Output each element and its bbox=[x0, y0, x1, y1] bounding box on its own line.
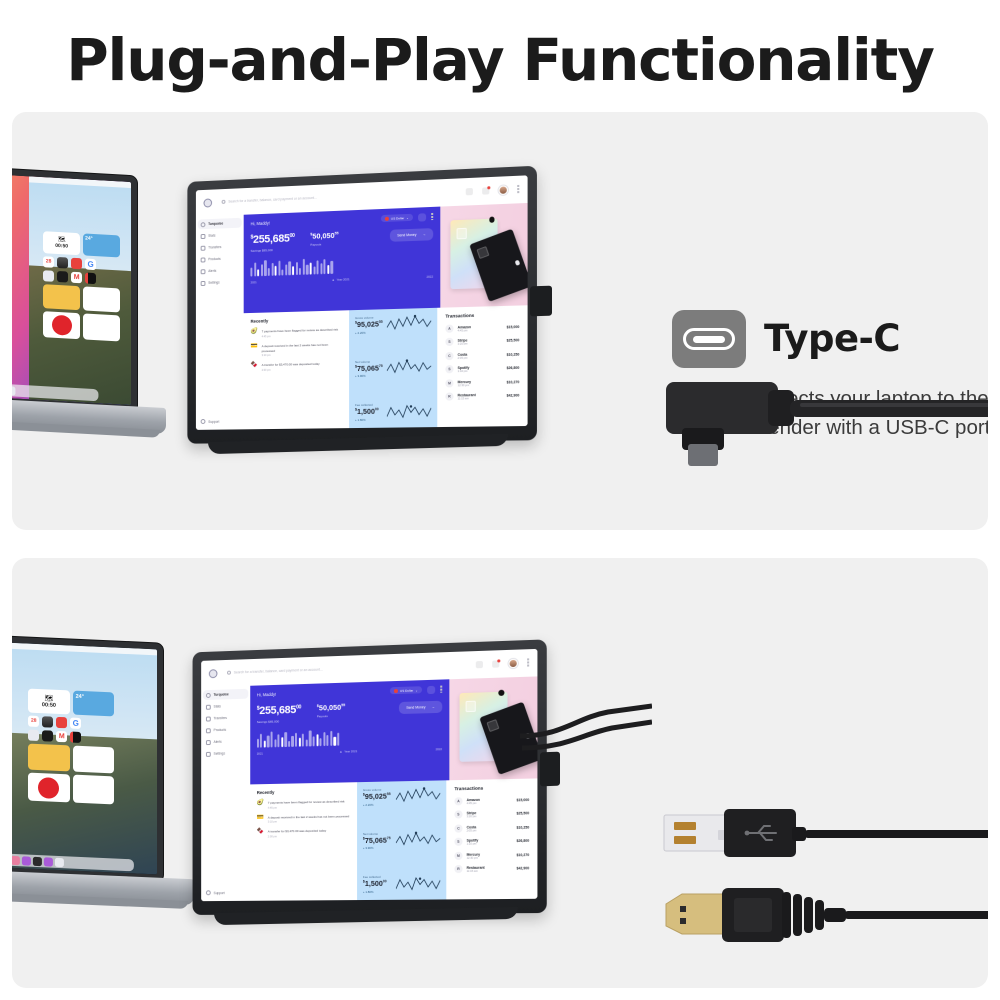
app-logo-icon[interactable] bbox=[204, 198, 213, 207]
sidebar-item-stats[interactable]: Stats bbox=[206, 704, 245, 710]
bar bbox=[302, 734, 304, 747]
portable-monitor-usb-hdmi: Search for a transfer, balance, card pay… bbox=[188, 646, 544, 914]
bar bbox=[261, 264, 263, 276]
finance-dashboard: Search for a transfer, balance, card pay… bbox=[201, 649, 537, 901]
transaction-amount: $25,500 bbox=[517, 811, 530, 815]
table-row[interactable]: S Spotify 1:10 pm $26,800 bbox=[454, 837, 529, 846]
item-time: 3:10 pm bbox=[262, 353, 343, 358]
item-emoji-icon: 🍫 bbox=[251, 362, 258, 372]
stat-delta: + 2.20% bbox=[363, 802, 391, 807]
monitor-port-nub bbox=[530, 286, 552, 317]
recently-section: Recently 🥑 7 payments have been flagged … bbox=[250, 782, 357, 838]
support-icon bbox=[206, 890, 211, 895]
world-clock-time: 00:50 bbox=[55, 243, 68, 250]
bar bbox=[320, 263, 322, 274]
sparkline-chart bbox=[387, 315, 431, 334]
dashboard-content: Hi, Maddy! US Dollar ⌄ bbox=[244, 203, 528, 429]
item-text: 7 payments have been flagged for review … bbox=[268, 800, 345, 805]
laptop-type-c: 🗺 00:50 24° 28 G bbox=[12, 170, 202, 470]
currency-label: US Dollar bbox=[391, 216, 404, 221]
transaction-time: 4:45 pm bbox=[458, 329, 471, 332]
balance-value: 255,685 bbox=[259, 704, 296, 717]
hero-row: Hi, Maddy! US Dollar ⌄ bbox=[244, 203, 528, 314]
mail-icon[interactable] bbox=[466, 188, 473, 195]
bar bbox=[313, 266, 315, 274]
stat-cents: 00 bbox=[375, 408, 379, 412]
avatar: R bbox=[454, 865, 462, 873]
notification-bell-icon[interactable] bbox=[482, 187, 489, 194]
list-item[interactable]: 🥑 7 payments have been flagged for revie… bbox=[257, 799, 350, 810]
transfers-icon bbox=[206, 716, 211, 721]
bar bbox=[278, 734, 280, 747]
weather-temp: 24° bbox=[76, 694, 112, 702]
bar bbox=[289, 261, 291, 275]
flag-icon bbox=[394, 689, 398, 693]
sidebar-item-label: Stats bbox=[214, 705, 221, 709]
sidebar: Turquoise Stats Transfers bbox=[201, 686, 250, 901]
table-row[interactable]: C Costa 2:05 pm $10,250 bbox=[445, 350, 519, 360]
calendar-icon: ▲ bbox=[332, 278, 335, 282]
sidebar-item-stats[interactable]: Stats bbox=[201, 233, 239, 239]
monitor-screen: Search for a transfer, balance, card pay… bbox=[196, 175, 528, 430]
chart-footer: 2021 ▲ Year 2021 2022 bbox=[257, 747, 442, 756]
bar bbox=[257, 739, 259, 748]
kebab-menu-icon[interactable] bbox=[517, 185, 519, 193]
sidebar: Turquoise Stats Transfers bbox=[196, 215, 244, 430]
balance-cents: 00 bbox=[290, 233, 295, 239]
world-clock-time: 00:50 bbox=[42, 702, 56, 709]
item-emoji-icon: 🥑 bbox=[251, 329, 258, 339]
sidebar-item-label: Transfers bbox=[214, 716, 227, 720]
stat-fee-collected: Fee collected $1,50000 + 1.80% bbox=[355, 402, 431, 422]
balance-cents: 00 bbox=[296, 704, 301, 710]
transaction-time: 4:45 pm bbox=[467, 802, 480, 805]
support-icon bbox=[201, 419, 206, 424]
item-time: 3:10 pm bbox=[268, 820, 349, 824]
stats-panel: Gross volume $95,02555 + 2.20% bbox=[349, 308, 437, 428]
bar bbox=[281, 737, 283, 747]
credit-cards-panel bbox=[440, 203, 527, 308]
bar bbox=[303, 259, 305, 275]
sidebar-item-settings[interactable]: Settings bbox=[201, 280, 239, 286]
avatar[interactable] bbox=[499, 185, 508, 195]
sidebar-item-label: Settings bbox=[214, 752, 225, 756]
sidebar-item-alerts[interactable]: Alerts bbox=[201, 268, 239, 274]
chart-footer-right: 2022 bbox=[427, 275, 434, 279]
bar bbox=[274, 739, 276, 747]
stat-fee-collected: Fee collected $1,50000 + 1.80% bbox=[363, 875, 440, 894]
bar bbox=[278, 261, 280, 276]
chevron-down-icon: ⌄ bbox=[406, 216, 409, 220]
item-emoji-icon: 💳 bbox=[257, 815, 264, 825]
weather-widget[interactable]: 24° bbox=[83, 233, 120, 257]
bar bbox=[285, 264, 287, 275]
app-icon-netflix[interactable] bbox=[85, 272, 96, 284]
stat-cents: 55 bbox=[379, 320, 383, 324]
lower-row: Recently 🥑 7 payments have been flagged … bbox=[250, 779, 538, 901]
desktop-widgets: 🗺 00:50 24° 28 G bbox=[43, 231, 120, 341]
app-icon-youtube[interactable] bbox=[56, 717, 67, 728]
flag-icon bbox=[385, 217, 389, 221]
stat-delta: + 1.80% bbox=[363, 890, 387, 894]
stat-delta: + 2.20% bbox=[355, 330, 383, 335]
app-icon-safari[interactable] bbox=[43, 270, 54, 282]
payouts-value: 50,050 bbox=[312, 231, 334, 241]
music-widget[interactable] bbox=[43, 311, 80, 339]
desktop-widgets: 🗺 00:50 24° 28 G bbox=[28, 689, 114, 805]
stats-icon bbox=[201, 234, 206, 239]
laptop-lid: 🗺 00:50 24° 28 G bbox=[12, 633, 164, 882]
bar bbox=[334, 737, 336, 746]
avatar: M bbox=[454, 852, 462, 860]
transaction-time: 1:10 pm bbox=[458, 370, 470, 373]
account-icon bbox=[206, 693, 211, 698]
music-widget[interactable] bbox=[28, 773, 69, 803]
sidebar-item-transfers[interactable]: Transfers bbox=[206, 715, 245, 721]
app-icon-google[interactable]: G bbox=[70, 717, 81, 728]
bar bbox=[331, 261, 333, 274]
laptop-lid: 🗺 00:50 24° 28 G bbox=[12, 165, 138, 414]
hdmi-cable bbox=[652, 878, 988, 958]
settings-icon bbox=[201, 281, 206, 286]
transaction-amount: $42,900 bbox=[517, 866, 530, 870]
item-text: A deposit received in the last 2 weeks h… bbox=[262, 342, 329, 352]
bar bbox=[282, 269, 284, 275]
app-icon-google[interactable]: G bbox=[85, 258, 96, 270]
bar bbox=[271, 731, 273, 747]
balance-bar-chart bbox=[257, 727, 442, 748]
macos-desktop: 🗺 00:50 24° 28 G bbox=[12, 172, 131, 405]
sidebar-item-label: Products bbox=[214, 728, 227, 732]
bar bbox=[267, 736, 269, 748]
savings-label: Savings $85,000 bbox=[257, 719, 301, 724]
recently-section: Recently 🥑 7 payments have been flagged … bbox=[244, 310, 349, 372]
notes-widget[interactable] bbox=[28, 744, 69, 772]
stat-cents: 75 bbox=[379, 364, 383, 368]
list-item[interactable]: 💳 A deposit received in the last 2 weeks… bbox=[257, 813, 350, 824]
send-money-button[interactable]: Send Money → bbox=[390, 228, 433, 242]
sidebar-account-switcher[interactable]: Turquoise bbox=[203, 689, 248, 700]
transaction-amount: $15,000 bbox=[507, 325, 520, 329]
stats-icon bbox=[206, 705, 211, 710]
bar bbox=[310, 263, 312, 275]
hero-kebab-menu-icon[interactable] bbox=[431, 213, 433, 220]
app-logo-icon[interactable] bbox=[209, 669, 218, 678]
notification-bell-icon[interactable] bbox=[492, 660, 499, 667]
settings-icon bbox=[206, 752, 211, 757]
app-icon-calendar[interactable]: 28 bbox=[28, 716, 39, 727]
calendar-widget[interactable] bbox=[83, 286, 120, 312]
calendar-widget[interactable] bbox=[73, 746, 114, 774]
monitor-bezel: Search for a transfer, balance, card pay… bbox=[187, 166, 537, 444]
sidebar-item-support[interactable]: Support bbox=[201, 419, 239, 424]
total-balance: $255,68500 Savings $85,000 bbox=[251, 233, 295, 252]
table-row[interactable]: R Restaurant 11:15 am $42,900 bbox=[445, 392, 519, 401]
product-feature-page: Plug-and-Play Functionality bbox=[0, 0, 1000, 1000]
avatar: A bbox=[454, 797, 462, 805]
item-time: 4:45 pm bbox=[262, 333, 338, 338]
stat-gross-volume: Gross volume $95,02555 + 2.20% bbox=[363, 787, 440, 807]
stat-value: 1,500 bbox=[365, 879, 383, 888]
sidebar-item-products[interactable]: Products bbox=[201, 256, 239, 262]
transaction-time: 11:15 am bbox=[458, 397, 476, 400]
recently-title: Recently bbox=[251, 317, 343, 324]
bar bbox=[257, 269, 259, 276]
transaction-time: 3:20 pm bbox=[458, 343, 468, 346]
monitor-bezel: Search for a transfer, balance, card pay… bbox=[193, 639, 547, 915]
transaction-time: 1:10 pm bbox=[467, 843, 479, 846]
bar bbox=[327, 265, 329, 274]
search-input[interactable]: Search for a transfer, balance, card pay… bbox=[217, 191, 378, 207]
usb-a-cable bbox=[652, 803, 988, 873]
avatar: S bbox=[454, 838, 462, 846]
item-text: A transfer for $3,470.00 was deposited t… bbox=[262, 362, 320, 367]
transaction-time: 2:05 pm bbox=[458, 356, 468, 359]
card-dot-icon bbox=[515, 260, 521, 266]
table-row[interactable]: R Restaurant 11:15 am $42,900 bbox=[454, 864, 529, 873]
item-emoji-icon: 💳 bbox=[251, 343, 258, 358]
balance-value: 255,685 bbox=[253, 233, 290, 246]
search-icon bbox=[227, 671, 231, 675]
total-balance: $255,68500 Savings $85,000 bbox=[257, 705, 301, 724]
sidebar-account-switcher[interactable]: Turquoise bbox=[198, 218, 242, 230]
chart-footer-left: 2021 bbox=[257, 751, 263, 755]
list-item[interactable]: 🥑 7 payments have been flagged for revie… bbox=[251, 327, 343, 339]
app-icon-gmail[interactable]: M bbox=[56, 731, 67, 742]
chart-footer-left: 2021 bbox=[251, 280, 257, 284]
stat-value: 95,025 bbox=[365, 792, 387, 801]
payouts-label: Payouts bbox=[310, 242, 338, 247]
expand-button[interactable] bbox=[418, 213, 426, 221]
payouts-amount: $50,05055 Payouts bbox=[310, 232, 338, 247]
sidebar-item-products[interactable]: Products bbox=[206, 727, 245, 733]
stat-value: 1,500 bbox=[357, 407, 375, 416]
expand-button[interactable] bbox=[427, 686, 435, 694]
alerts-icon bbox=[201, 269, 206, 274]
dashboard-body: Turquoise Stats Transfers bbox=[201, 676, 537, 901]
transaction-amount: $10,270 bbox=[507, 380, 520, 384]
transaction-amount: $42,900 bbox=[507, 394, 520, 398]
chart-footer-mid: Year 2021 bbox=[344, 749, 357, 753]
transaction-time: 12:30 pm bbox=[458, 384, 471, 387]
list-item[interactable]: 🍫 A transfer for $3,470.00 was deposited… bbox=[257, 828, 350, 839]
bar bbox=[309, 730, 311, 746]
transaction-time: 11:15 am bbox=[467, 870, 485, 873]
sidebar-support-label: Support bbox=[208, 419, 219, 423]
search-input[interactable]: Search for a transfer, balance, card pay… bbox=[222, 663, 386, 678]
finance-dashboard: Search for a transfer, balance, card pay… bbox=[196, 175, 528, 430]
bar bbox=[320, 738, 322, 746]
health-widget[interactable] bbox=[73, 775, 114, 805]
card-chip-icon bbox=[477, 246, 490, 259]
chart-footer-mid: Year 2021 bbox=[337, 277, 350, 281]
app-icon-photos[interactable] bbox=[42, 716, 53, 727]
list-item[interactable]: 💳 A deposit received in the last 2 weeks… bbox=[251, 341, 343, 358]
list-item[interactable]: 🍫 A transfer for $3,470.00 was deposited… bbox=[251, 361, 343, 372]
avatar: C bbox=[454, 824, 462, 832]
app-icon-clock[interactable] bbox=[57, 270, 68, 282]
monitor-screen: Search for a transfer, balance, card pay… bbox=[201, 649, 537, 901]
portable-monitor-type-c: Search for a transfer, balance, card pay… bbox=[182, 174, 534, 442]
sidebar-support-label: Support bbox=[214, 891, 225, 895]
item-emoji-icon: 🍫 bbox=[257, 829, 264, 839]
payouts-value: 50,050 bbox=[319, 703, 341, 713]
sidebar-item-transfers[interactable]: Transfers bbox=[201, 244, 239, 250]
balance-bar-chart bbox=[251, 254, 434, 276]
avatar: S bbox=[454, 811, 462, 819]
bar bbox=[313, 736, 315, 746]
app-icon-calendar[interactable]: 28 bbox=[43, 256, 54, 268]
stat-value: 75,065 bbox=[365, 836, 387, 845]
usb-c-right-angle-cable bbox=[660, 360, 988, 480]
transaction-amount: $26,800 bbox=[517, 839, 530, 843]
hero-kebab-menu-icon[interactable] bbox=[440, 686, 442, 693]
send-money-button[interactable]: Send Money → bbox=[399, 701, 442, 714]
bar bbox=[299, 738, 301, 747]
avatar: C bbox=[445, 352, 453, 360]
sidebar-item-alerts[interactable]: Alerts bbox=[206, 739, 245, 745]
currency-selector[interactable]: US Dollar ⌄ bbox=[390, 687, 422, 695]
sidebar-item-support[interactable]: Support bbox=[206, 890, 245, 895]
bar bbox=[324, 259, 326, 274]
app-icon-clock[interactable] bbox=[42, 730, 53, 741]
transaction-amount: $10,270 bbox=[517, 853, 530, 857]
transaction-amount: $25,500 bbox=[507, 338, 520, 342]
app-icon-youtube[interactable] bbox=[71, 257, 82, 269]
sparkline-chart bbox=[387, 359, 431, 378]
currency-selector[interactable]: US Dollar ⌄ bbox=[381, 214, 413, 222]
topbar-actions bbox=[466, 185, 520, 196]
transaction-amount: $10,250 bbox=[517, 825, 530, 829]
world-clock-widget[interactable]: 🗺 00:50 bbox=[28, 689, 69, 715]
app-icon-netflix[interactable] bbox=[70, 731, 81, 742]
payouts-cents: 55 bbox=[335, 231, 339, 235]
bar bbox=[268, 268, 270, 276]
bar bbox=[317, 260, 319, 274]
transactions-panel: Transactions A Amazon 4:45 pm $15,000 bbox=[437, 306, 527, 402]
bar bbox=[292, 736, 294, 747]
sparkline-chart bbox=[396, 875, 440, 894]
item-text: A deposit received in the last 2 weeks h… bbox=[268, 814, 349, 819]
recently-title: Recently bbox=[257, 789, 350, 796]
table-row[interactable]: S Stripe 3:20 pm $25,500 bbox=[454, 809, 529, 818]
lower-row: Recently 🥑 7 payments have been flagged … bbox=[244, 306, 528, 430]
card-chip-icon bbox=[456, 228, 466, 239]
notes-widget[interactable] bbox=[43, 284, 80, 310]
greeting: Hi, Maddy! bbox=[257, 692, 276, 698]
transaction-time: 12:30 pm bbox=[467, 856, 480, 859]
weather-widget[interactable]: 24° bbox=[73, 691, 115, 717]
dashboard-content: Hi, Maddy! US Dollar ⌄ bbox=[250, 676, 538, 900]
avatar: S bbox=[445, 338, 453, 346]
item-time: 2:00 pm bbox=[262, 368, 320, 372]
send-money-label: Send Money bbox=[397, 233, 416, 238]
bar bbox=[264, 741, 266, 748]
alerts-icon bbox=[206, 740, 211, 745]
stat-cents: 75 bbox=[387, 836, 391, 840]
item-text: A transfer for $3,470.00 was deposited t… bbox=[268, 829, 326, 834]
stat-net-volume: Net volume $75,06575 + 3.90% bbox=[363, 831, 440, 851]
app-icon-photos[interactable] bbox=[57, 256, 68, 268]
currency-label: US Dollar bbox=[400, 688, 413, 692]
payouts-cents: 55 bbox=[341, 703, 345, 707]
bar bbox=[316, 734, 318, 746]
card-chip-icon bbox=[487, 719, 500, 732]
stats-panel: Gross volume $95,02555 + 2.20% bbox=[357, 781, 446, 900]
avatar: R bbox=[445, 393, 453, 401]
balance-hero-card: Hi, Maddy! US Dollar ⌄ bbox=[250, 679, 449, 784]
table-row[interactable]: S Stripe 3:20 pm $25,500 bbox=[445, 336, 519, 346]
bar bbox=[296, 262, 298, 275]
products-icon bbox=[201, 257, 206, 262]
sidebar-item-label: Alerts bbox=[208, 269, 216, 273]
stat-net-volume: Net volume $75,06575 + 3.90% bbox=[355, 358, 431, 378]
macos-desktop: 🗺 00:50 24° 28 G bbox=[12, 641, 157, 875]
account-icon bbox=[201, 222, 206, 227]
sparkline-chart bbox=[396, 787, 440, 806]
table-row[interactable]: M Mercury 12:30 pm $10,270 bbox=[454, 851, 529, 860]
calendar-icon: ▲ bbox=[339, 750, 342, 754]
sidebar-item-label: Stats bbox=[208, 234, 215, 238]
greeting: Hi, Maddy! bbox=[251, 221, 270, 227]
search-placeholder: Search for a transfer, balance, card pay… bbox=[228, 196, 316, 204]
stat-cents: 55 bbox=[387, 792, 391, 796]
table-row[interactable]: M Mercury 12:30 pm $10,270 bbox=[445, 378, 519, 387]
avatar: A bbox=[445, 324, 453, 332]
savings-label: Savings $85,000 bbox=[251, 247, 295, 253]
app-icon-gmail[interactable]: M bbox=[71, 271, 82, 283]
sidebar-item-label: Products bbox=[208, 257, 220, 261]
products-icon bbox=[206, 728, 211, 733]
table-row[interactable]: C Costa 2:05 pm $10,250 bbox=[454, 823, 529, 832]
bar bbox=[251, 268, 253, 277]
bar bbox=[292, 266, 294, 275]
weather-temp: 24° bbox=[85, 235, 118, 243]
transfers-icon bbox=[201, 246, 206, 251]
bar bbox=[299, 268, 301, 275]
sidebar-item-settings[interactable]: Settings bbox=[206, 751, 245, 757]
stat-delta: + 3.90% bbox=[355, 374, 383, 379]
laptop-screen: 🗺 00:50 24° 28 G bbox=[12, 172, 131, 405]
panel-usb-a-hdmi: 🗺 00:50 24° 28 G bbox=[12, 558, 988, 988]
sidebar-item-label: Transfers bbox=[208, 246, 221, 250]
transaction-time: 3:20 pm bbox=[467, 815, 477, 818]
payouts-amount: $50,05055 Payouts bbox=[317, 704, 345, 719]
bar bbox=[260, 734, 262, 748]
monitor-connection-cables bbox=[512, 648, 652, 808]
item-time: 4:45 pm bbox=[268, 805, 345, 809]
table-row[interactable]: A Amazon 4:45 pm $15,000 bbox=[445, 323, 519, 333]
table-row[interactable]: S Spotify 1:10 pm $26,800 bbox=[445, 364, 519, 374]
transaction-amount: $10,250 bbox=[507, 352, 520, 356]
stat-delta: + 3.90% bbox=[363, 846, 391, 850]
item-emoji-icon: 🥑 bbox=[257, 800, 264, 810]
stat-value: 95,025 bbox=[357, 320, 379, 330]
sparkline-chart bbox=[387, 403, 431, 422]
dashboard-body: Turquoise Stats Transfers bbox=[196, 203, 528, 430]
app-icon-safari[interactable] bbox=[28, 730, 39, 741]
sparkline-chart bbox=[396, 831, 440, 850]
mail-icon[interactable] bbox=[476, 661, 483, 668]
laptop-screen: 🗺 00:50 24° 28 G bbox=[12, 641, 157, 875]
health-widget[interactable] bbox=[83, 313, 120, 341]
page-title: Plug-and-Play Functionality bbox=[0, 26, 1000, 94]
arrow-right-icon: → bbox=[423, 232, 426, 236]
payouts-label: Payouts bbox=[317, 714, 345, 719]
avatar: S bbox=[445, 365, 453, 373]
bar bbox=[295, 733, 297, 747]
world-clock-widget[interactable]: 🗺 00:50 bbox=[43, 231, 80, 255]
